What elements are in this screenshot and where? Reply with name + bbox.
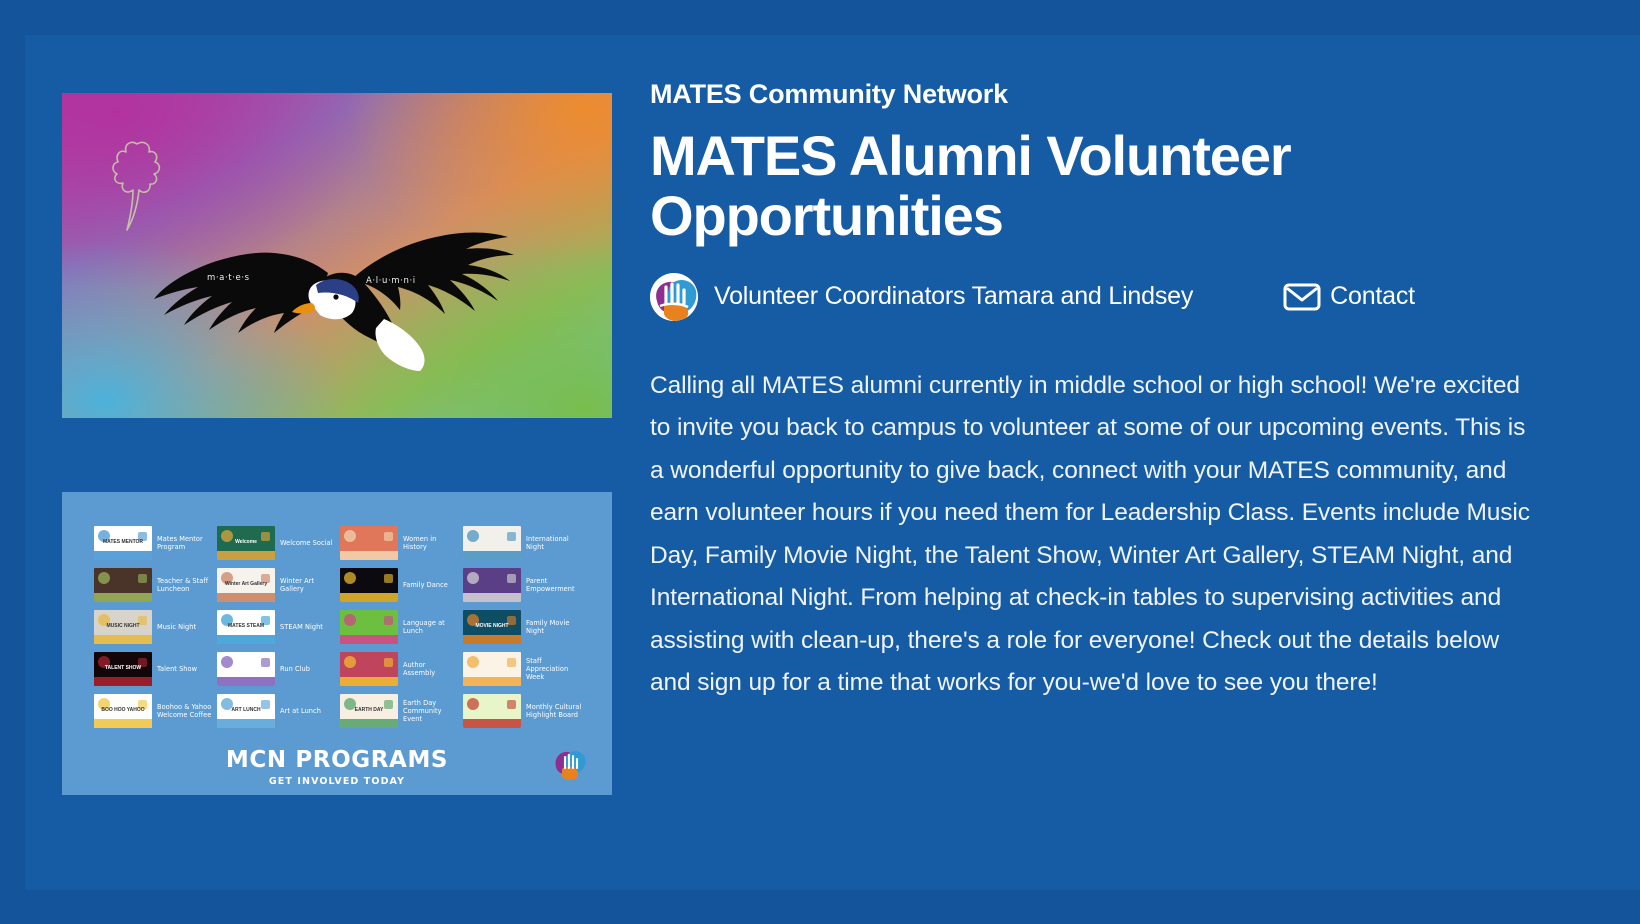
author-row: Volunteer Coordinators Tamara and Lindse…: [650, 273, 1550, 321]
program-label: Author Assembly: [403, 661, 459, 677]
envelope-icon: [1283, 282, 1321, 312]
program-thumbnail: [217, 652, 275, 686]
program-thumbnail: MUSIC NIGHT: [94, 610, 152, 644]
program-thumbnail-text: Welcome: [233, 540, 259, 545]
program-label: Parent Empowerment: [526, 577, 582, 593]
contact-label: Contact: [1330, 282, 1415, 311]
program-item[interactable]: TALENT SHOWTalent Show: [94, 651, 213, 687]
program-label: Staff Appreciation Week: [526, 657, 582, 682]
program-label: Welcome Social: [280, 539, 333, 547]
page-root: m·a·t·e·s A·l·u·m·n·i MATES MENTORMates …: [0, 0, 1640, 924]
program-thumbnail-text: ART LUNCH: [229, 708, 262, 713]
program-thumbnail: ART LUNCH: [217, 694, 275, 728]
program-thumbnail: Welcome: [217, 526, 275, 560]
program-label: Earth Day Community Event: [403, 699, 459, 724]
mates-hands-logo-icon: [650, 273, 698, 321]
program-item[interactable]: ART LUNCHArt at Lunch: [217, 693, 336, 729]
program-label: Teacher & Staff Luncheon: [157, 577, 213, 593]
program-thumbnail: [340, 610, 398, 644]
poster-title: MCN PROGRAMS: [62, 747, 612, 773]
program-item[interactable]: WelcomeWelcome Social: [217, 525, 336, 561]
program-item[interactable]: EARTH DAYEarth Day Community Event: [340, 693, 459, 729]
right-column: MATES Community Network MATES Alumni Vol…: [650, 78, 1550, 705]
program-thumbnail-text: MATES STEAM: [226, 624, 266, 629]
page-title: MATES Alumni Volunteer Opportunities: [650, 126, 1440, 247]
author-name: Volunteer Coordinators Tamara and Lindse…: [714, 282, 1193, 311]
program-item[interactable]: International Night: [463, 525, 582, 561]
program-item[interactable]: BOO HOO YAHOOBoohoo & Yahoo Welcome Coff…: [94, 693, 213, 729]
program-thumbnail: BOO HOO YAHOO: [94, 694, 152, 728]
program-label: Language at Lunch: [403, 619, 459, 635]
avatar: [650, 273, 698, 321]
program-thumbnail: [340, 652, 398, 686]
program-thumbnail: [463, 694, 521, 728]
program-thumbnail: MATES STEAM: [217, 610, 275, 644]
program-label: Mates Mentor Program: [157, 535, 213, 551]
program-thumbnail: Winter Art Gallery: [217, 568, 275, 602]
program-thumbnail: [463, 652, 521, 686]
program-thumbnail: MOVIE NIGHT: [463, 610, 521, 644]
wing-text-alumni: A·l·u·m·n·i: [366, 276, 416, 286]
poster-subtitle: GET INVOLVED TODAY: [62, 776, 612, 787]
left-column: m·a·t·e·s A·l·u·m·n·i: [62, 93, 612, 418]
program-item[interactable]: Family Dance: [340, 567, 459, 603]
program-thumbnail: [94, 568, 152, 602]
program-item[interactable]: Monthly Cultural Highlight Board: [463, 693, 582, 729]
program-item[interactable]: MUSIC NIGHTMusic Night: [94, 609, 213, 645]
wing-text-mates: m·a·t·e·s: [207, 273, 250, 283]
program-label: Art at Lunch: [280, 707, 321, 715]
program-label: Winter Art Gallery: [280, 577, 336, 593]
eyebrow-breadcrumb: MATES Community Network: [650, 78, 1550, 112]
program-thumbnail-text: MUSIC NIGHT: [104, 624, 141, 629]
contact-button[interactable]: Contact: [1283, 282, 1415, 312]
program-thumbnail: [463, 568, 521, 602]
program-thumbnail-text: MOVIE NIGHT: [473, 624, 510, 629]
hero-eagle-banner: m·a·t·e·s A·l·u·m·n·i: [62, 93, 612, 418]
program-label: STEAM Night: [280, 623, 323, 631]
program-item[interactable]: Language at Lunch: [340, 609, 459, 645]
program-label: Talent Show: [157, 665, 197, 673]
program-thumbnail: MATES MENTOR: [94, 526, 152, 560]
program-thumbnail-text: EARTH DAY: [353, 708, 386, 713]
program-thumbnail-text: BOO HOO YAHOO: [99, 708, 146, 713]
bald-eagle-icon: [140, 201, 540, 381]
program-thumbnail: EARTH DAY: [340, 694, 398, 728]
program-item[interactable]: Parent Empowerment: [463, 567, 582, 603]
program-label: Run Club: [280, 665, 310, 673]
program-item[interactable]: Staff Appreciation Week: [463, 651, 582, 687]
program-thumbnail: [340, 526, 398, 560]
program-item[interactable]: Teacher & Staff Luncheon: [94, 567, 213, 603]
program-label: Women in History: [403, 535, 459, 551]
program-label: International Night: [526, 535, 582, 551]
program-item[interactable]: Women in History: [340, 525, 459, 561]
body-paragraph: Calling all MATES alumni currently in mi…: [650, 365, 1540, 705]
program-thumbnail: TALENT SHOW: [94, 652, 152, 686]
program-thumbnail: [463, 526, 521, 560]
mcn-programs-poster: MATES MENTORMates Mentor ProgramWelcomeW…: [62, 492, 612, 795]
program-thumbnail-text: TALENT SHOW: [103, 666, 143, 671]
program-label: Family Movie Night: [526, 619, 582, 635]
program-label: Boohoo & Yahoo Welcome Coffee: [157, 703, 213, 719]
program-label: Family Dance: [403, 581, 448, 589]
program-item[interactable]: Author Assembly: [340, 651, 459, 687]
program-item[interactable]: MATES MENTORMates Mentor Program: [94, 525, 213, 561]
program-item[interactable]: Winter Art GalleryWinter Art Gallery: [217, 567, 336, 603]
mcn-hands-logo-icon: [552, 747, 588, 781]
program-item[interactable]: MOVIE NIGHTFamily Movie Night: [463, 609, 582, 645]
program-label: Monthly Cultural Highlight Board: [526, 703, 582, 719]
program-thumbnail-text: MATES MENTOR: [101, 540, 145, 545]
program-grid: MATES MENTORMates Mentor ProgramWelcomeW…: [94, 525, 582, 729]
program-item[interactable]: MATES STEAMSTEAM Night: [217, 609, 336, 645]
program-label: Music Night: [157, 623, 196, 631]
poster-footer: MCN PROGRAMS GET INVOLVED TODAY: [62, 747, 612, 787]
program-thumbnail: [340, 568, 398, 602]
program-item[interactable]: Run Club: [217, 651, 336, 687]
program-thumbnail-text: Winter Art Gallery: [223, 582, 269, 587]
